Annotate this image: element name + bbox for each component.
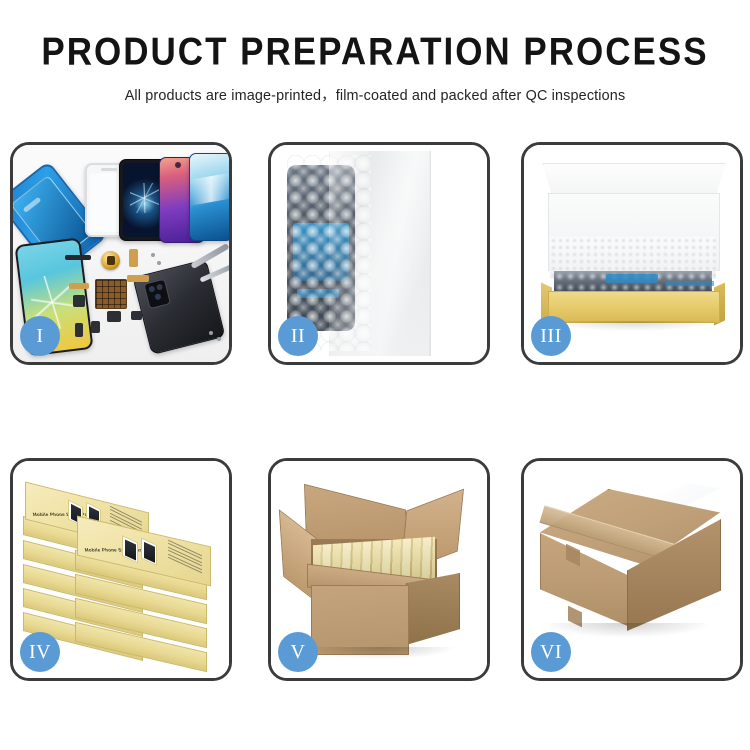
process-step-panel-3[interactable]: III [521, 142, 743, 365]
step-badge-4: IV [20, 632, 60, 672]
repair-tweezers-icon [190, 243, 229, 269]
small-part-icon [131, 311, 142, 320]
box-window-phone-image [122, 535, 138, 563]
flex-cable-icon [69, 283, 89, 289]
speaker-module-icon [107, 311, 121, 322]
box-front-panel-icon [548, 291, 720, 323]
process-step-panel-1[interactable]: I [10, 142, 232, 365]
screw-icon [157, 261, 161, 265]
box-window-phone-image [141, 537, 157, 565]
flex-cable-icon [129, 249, 138, 267]
step-badge-1: I [20, 316, 60, 356]
carton-front-panel-icon [311, 585, 409, 655]
screw-icon [217, 337, 221, 341]
logic-board-chip-icon [95, 279, 127, 309]
screw-icon [151, 253, 155, 257]
earpiece-bar-icon [65, 255, 91, 260]
camera-module-icon [73, 295, 85, 307]
screw-icon [209, 331, 213, 335]
process-step-grid: I II II [10, 142, 740, 684]
process-step-panel-6[interactable]: VI [521, 458, 743, 681]
wrapped-parts-inside-box-icon [554, 271, 712, 293]
small-part-icon [91, 321, 100, 333]
step-badge-3: III [531, 316, 571, 356]
box-spec-lines [168, 540, 202, 576]
process-step-panel-2[interactable]: II [268, 142, 490, 365]
drop-shadow [307, 647, 455, 659]
carton-side-panel-icon [406, 573, 460, 645]
page-subtitle: All products are image-printed，film-coat… [0, 84, 750, 105]
drop-shadow [546, 623, 708, 637]
sim-tray-icon [75, 323, 83, 337]
header: PRODUCT PREPARATION PROCESS All products… [0, 0, 750, 105]
gold-taptic-coil-icon [101, 251, 120, 270]
page-title: PRODUCT PREPARATION PROCESS [0, 30, 750, 75]
step-badge-6: VI [531, 632, 571, 672]
flex-cable-icon [127, 275, 149, 282]
plastic-sheen-overlay [329, 151, 429, 356]
step-badge-5: V [278, 632, 318, 672]
process-step-panel-5[interactable]: V [268, 458, 490, 681]
step-badge-2: II [278, 316, 318, 356]
drop-shadow [550, 321, 716, 331]
blue-wave-phone-icon [189, 153, 229, 241]
process-step-panel-4[interactable]: Mobile Phone Spare Parts Mobile Phone Sp… [10, 458, 232, 681]
